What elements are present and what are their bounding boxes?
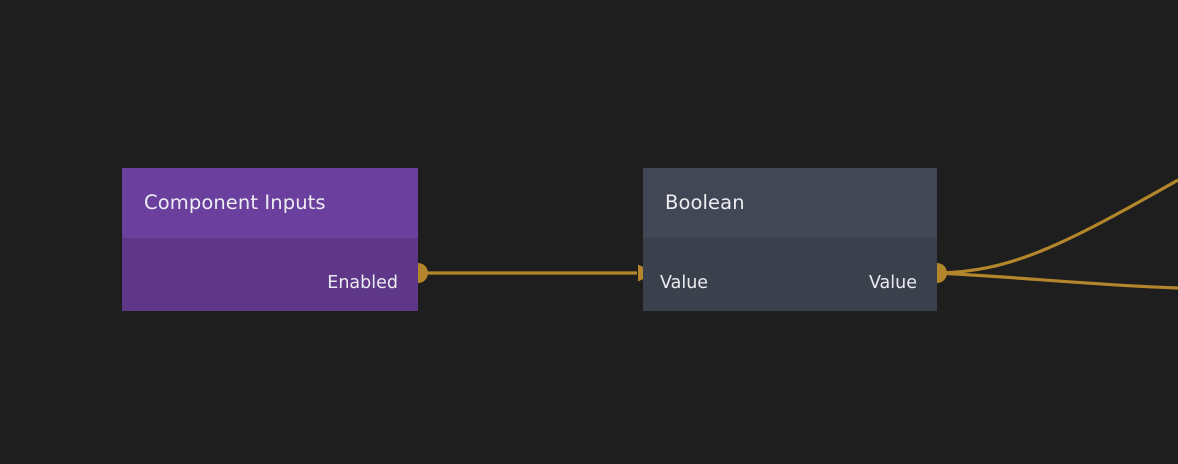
output-port-label-enabled: Enabled — [327, 275, 398, 293]
node-graph-canvas[interactable]: Component Inputs Enabled Boolean Value V… — [0, 0, 1178, 464]
node-body-component-inputs: Enabled — [122, 238, 418, 311]
node-body-boolean: Value Value — [643, 238, 937, 311]
node-header-component-inputs[interactable]: Component Inputs — [122, 168, 418, 238]
wire-value-out-upper[interactable] — [937, 180, 1178, 273]
node-component-inputs[interactable]: Component Inputs Enabled — [122, 168, 418, 311]
output-port-row-value[interactable]: Value — [643, 271, 937, 297]
wire-value-out-lower[interactable] — [937, 273, 1178, 288]
node-title-boolean: Boolean — [665, 193, 745, 213]
output-port-label-value: Value — [869, 275, 917, 293]
node-header-boolean[interactable]: Boolean — [643, 168, 937, 238]
output-port-row-enabled[interactable]: Enabled — [122, 271, 418, 297]
node-boolean[interactable]: Boolean Value Value — [643, 168, 937, 311]
node-title-component-inputs: Component Inputs — [144, 193, 326, 213]
